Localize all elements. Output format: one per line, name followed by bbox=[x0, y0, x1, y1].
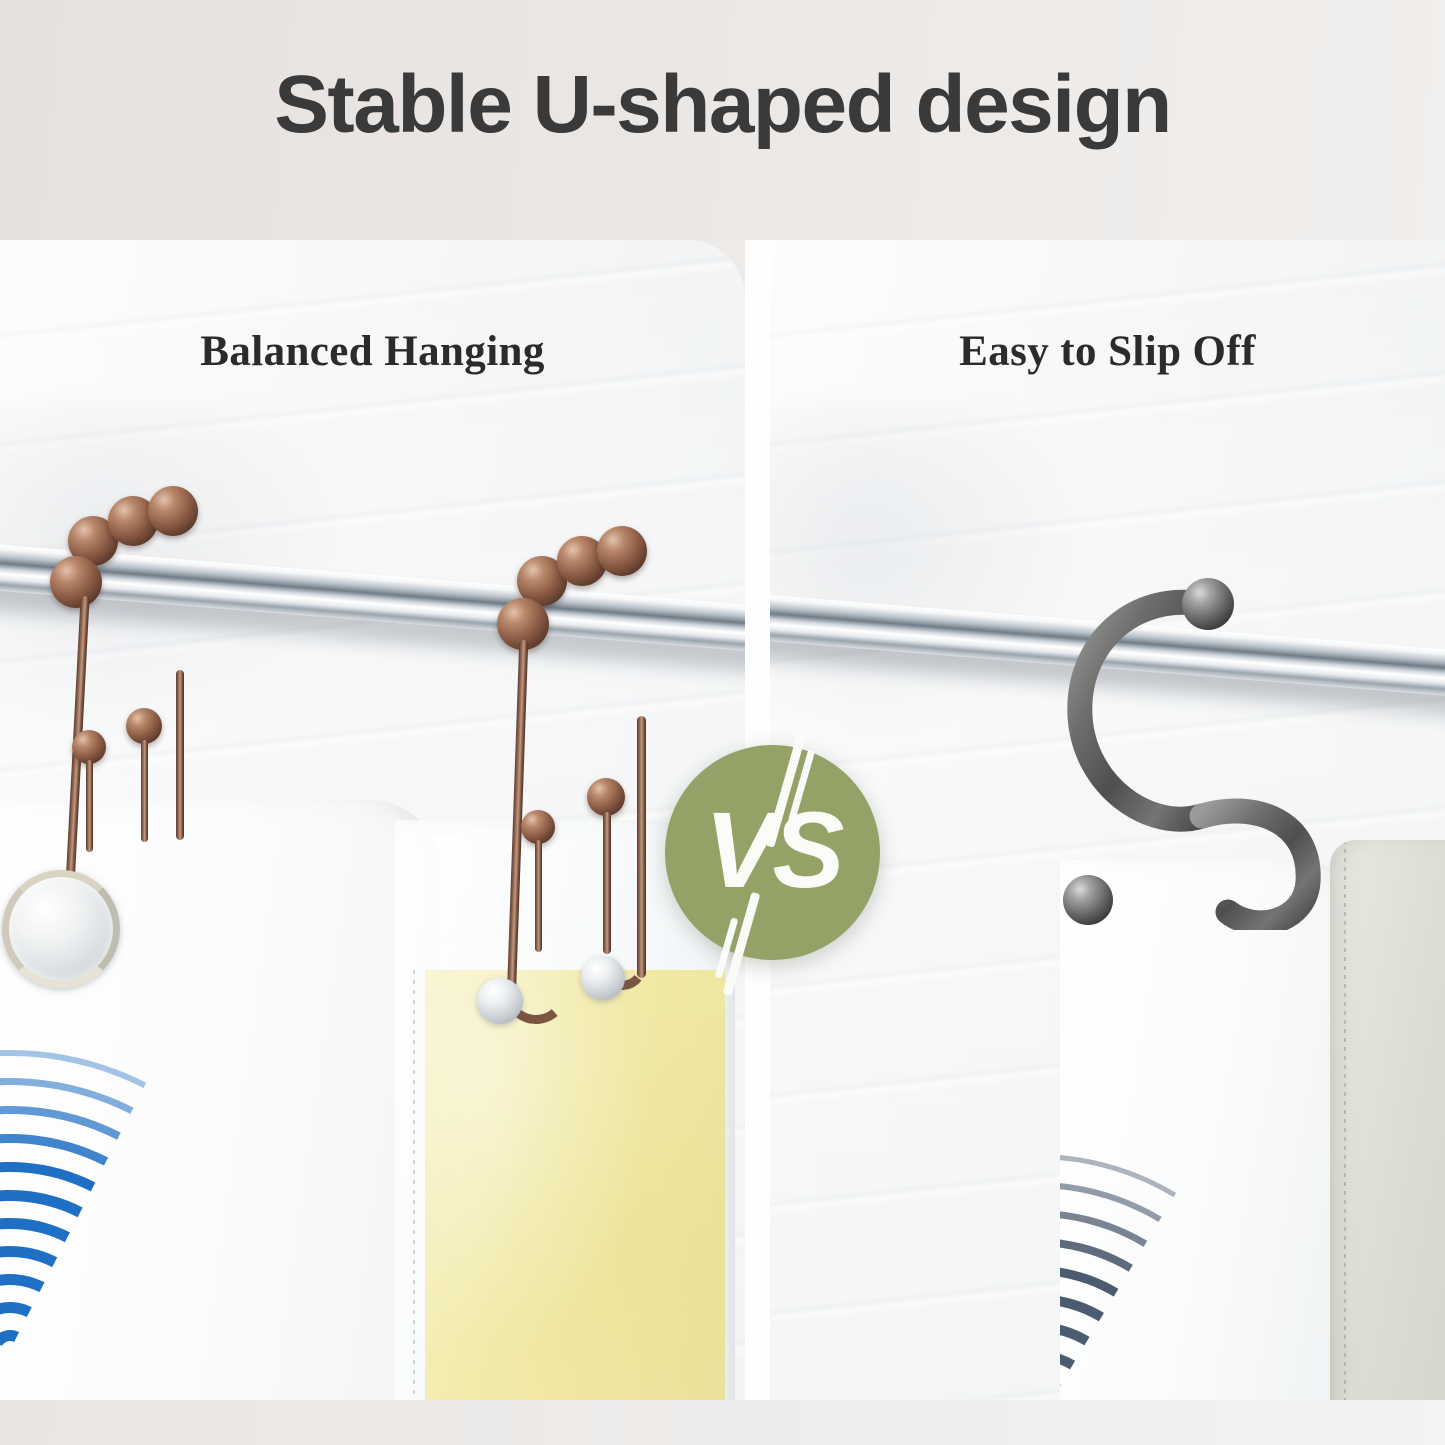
vs-label: VS bbox=[665, 745, 880, 960]
left-panel-label: Balanced Hanging bbox=[0, 327, 745, 376]
curtain-stitching bbox=[413, 970, 415, 1400]
footer-band bbox=[0, 1400, 1445, 1445]
ball-finial-icon bbox=[148, 486, 198, 536]
hook-pin bbox=[141, 740, 148, 842]
ball-finial-icon bbox=[521, 810, 555, 844]
s-hook-icon bbox=[1050, 570, 1330, 930]
hook-pin bbox=[535, 840, 542, 952]
ball-finial-icon bbox=[587, 778, 625, 816]
outer-fabric-curtain bbox=[1330, 840, 1445, 1400]
comparison-stage: Balanced Hanging bbox=[0, 240, 1445, 1400]
s-hook bbox=[1050, 570, 1330, 935]
grommet-ring-icon bbox=[581, 956, 625, 1000]
hook-pin bbox=[86, 760, 93, 852]
hook-pin bbox=[603, 812, 611, 954]
vs-badge: VS bbox=[665, 745, 880, 960]
header-band: Stable U-shaped design bbox=[0, 0, 1445, 240]
hook-leg bbox=[637, 716, 646, 978]
yellow-curtain-panel bbox=[425, 970, 725, 1400]
grommet-ring-icon bbox=[477, 978, 523, 1024]
ball-finial-icon bbox=[50, 556, 102, 608]
ball-finial-icon bbox=[72, 730, 106, 764]
right-panel-label: Easy to Slip Off bbox=[770, 327, 1445, 376]
product-comparison-image: Stable U-shaped design bbox=[0, 0, 1445, 1445]
left-comparison-panel: Balanced Hanging bbox=[0, 240, 745, 1400]
grommet-ring-icon bbox=[2, 870, 120, 988]
slipping-shower-curtain bbox=[1060, 860, 1360, 1400]
hook-pin bbox=[176, 670, 184, 840]
ball-finial-icon bbox=[597, 526, 647, 576]
page-title: Stable U-shaped design bbox=[0, 58, 1445, 152]
ball-finial-icon bbox=[126, 708, 162, 744]
